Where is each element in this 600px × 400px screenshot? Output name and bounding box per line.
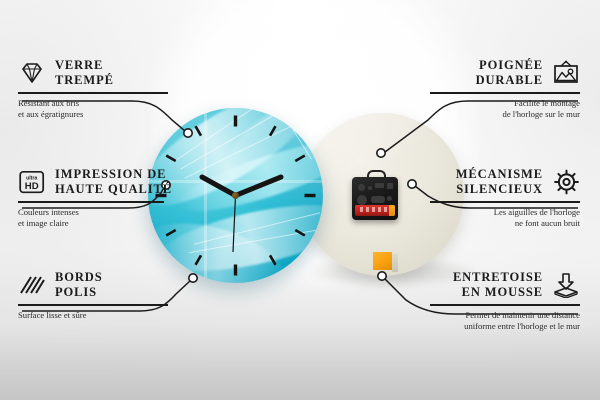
feature-title: ENTRETOISE EN MOUSSE bbox=[453, 270, 543, 299]
wall-hanger-frame-icon bbox=[552, 60, 580, 86]
feature-mecanisme-silencieux: MÉCANISME SILENCIEUX bbox=[430, 167, 580, 229]
diamond-icon bbox=[18, 60, 46, 86]
feature-header: VERRE TREMPÉ bbox=[18, 58, 168, 87]
feature-title: IMPRESSION DE HAUTE QUALITÉ bbox=[55, 167, 172, 196]
feature-poignee-durable: POIGNÉE DURABLE Facilite le montage de l… bbox=[430, 58, 580, 120]
feature-divider bbox=[18, 304, 168, 306]
connector-dot-poignee bbox=[377, 149, 385, 157]
feature-description: Les aiguilles de l'horloge ne font aucun… bbox=[430, 207, 580, 229]
feature-header: MÉCANISME SILENCIEUX bbox=[430, 167, 580, 196]
feature-divider bbox=[430, 201, 580, 203]
svg-text:HD: HD bbox=[25, 181, 39, 192]
feature-header: BORDS POLIS bbox=[18, 270, 168, 299]
feature-verre-trempe: VERRE TREMPÉ Résistant aux bris et aux é… bbox=[18, 58, 168, 120]
foam-spacer-arrow-icon bbox=[552, 272, 580, 298]
feature-title: MÉCANISME SILENCIEUX bbox=[456, 167, 543, 196]
feature-description: Surface lisse et sûre bbox=[18, 310, 168, 321]
gear-icon bbox=[552, 169, 580, 195]
feature-description: Résistant aux bris et aux égratignures bbox=[18, 98, 168, 120]
infographic-canvas: VERRE TREMPÉ Résistant aux bris et aux é… bbox=[0, 0, 600, 400]
feature-description: Couleurs intenses et image claire bbox=[18, 207, 164, 229]
connector-dot-entretoise bbox=[378, 272, 386, 280]
feature-header: ENTRETOISE EN MOUSSE bbox=[430, 270, 580, 299]
feature-impression-haute-qualite: ultra HD IMPRESSION DE HAUTE QUALITÉ Cou… bbox=[18, 167, 164, 229]
connector-dot-bords-polis bbox=[189, 274, 197, 282]
feature-entretoise-en-mousse: ENTRETOISE EN MOUSSE Permet de maintenir… bbox=[430, 270, 580, 332]
feature-description: Permet de maintenir une distance uniform… bbox=[430, 310, 580, 332]
feature-title: BORDS POLIS bbox=[55, 270, 103, 299]
ultra-hd-icon: ultra HD bbox=[18, 169, 46, 195]
connector-dot-verre-trempe bbox=[184, 129, 192, 137]
feature-header: ultra HD IMPRESSION DE HAUTE QUALITÉ bbox=[18, 167, 164, 196]
feature-title: VERRE TREMPÉ bbox=[55, 58, 114, 87]
feature-divider bbox=[430, 304, 580, 306]
feature-description: Facilite le montage de l'horloge sur le … bbox=[430, 98, 580, 120]
feature-header: POIGNÉE DURABLE bbox=[430, 58, 580, 87]
feature-bords-polis: BORDS POLIS Surface lisse et sûre bbox=[18, 270, 168, 321]
feature-divider bbox=[18, 201, 164, 203]
feature-title: POIGNÉE DURABLE bbox=[476, 58, 543, 87]
feature-divider bbox=[18, 92, 168, 94]
polished-edges-icon bbox=[18, 272, 46, 298]
connector-dot-mecanisme bbox=[408, 180, 416, 188]
feature-divider bbox=[430, 92, 580, 94]
